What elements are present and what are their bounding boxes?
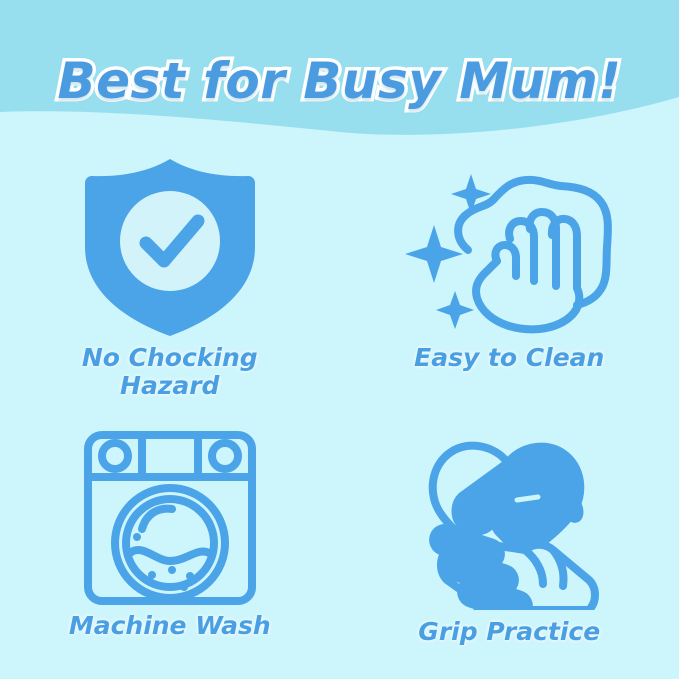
machine-drum-highlight (142, 508, 172, 528)
page-title: Best for Busy Mum! (0, 52, 679, 110)
feature-label-grip-practice: Grip Practice (418, 618, 600, 646)
bubble-icon-1 (133, 533, 141, 541)
feature-label-machine-wash: Machine Wash (69, 612, 271, 640)
feature-grid: No Chocking Hazard (0, 140, 679, 679)
machine-knob-right (212, 443, 238, 469)
feature-item-machine-wash: Machine Wash (0, 410, 340, 679)
machine-door-outer (115, 488, 225, 598)
bubble-icon-2 (148, 571, 156, 579)
hand-wiping-sparkle-icon (389, 140, 629, 340)
sparkle-icon-small (436, 291, 474, 329)
feature-item-easy-to-clean: Easy to Clean (340, 140, 679, 410)
shield-inner-circle (120, 191, 220, 291)
handshake-upper-knuckle-line (517, 497, 538, 500)
best-for-busy-mum-infographic: Best for Busy Mum! No Chocking Hazard (0, 0, 679, 679)
machine-knob-left (102, 443, 128, 469)
feature-label-no-chocking-hazard: No Chocking Hazard (82, 344, 258, 401)
hand-palm-outline (476, 261, 579, 329)
bubble-icon-3 (168, 566, 176, 574)
handshake-heart-icon (403, 410, 615, 614)
machine-body (88, 435, 252, 601)
feature-item-grip-practice: Grip Practice (340, 410, 679, 679)
shield-check-icon (72, 140, 268, 340)
bubble-icon-5 (180, 583, 188, 591)
machine-water-line (130, 549, 209, 560)
feature-item-no-chocking-hazard: No Chocking Hazard (0, 140, 340, 410)
bubble-icon-4 (186, 572, 194, 580)
washing-machine-icon (80, 410, 260, 608)
feature-label-easy-to-clean: Easy to Clean (414, 344, 604, 372)
